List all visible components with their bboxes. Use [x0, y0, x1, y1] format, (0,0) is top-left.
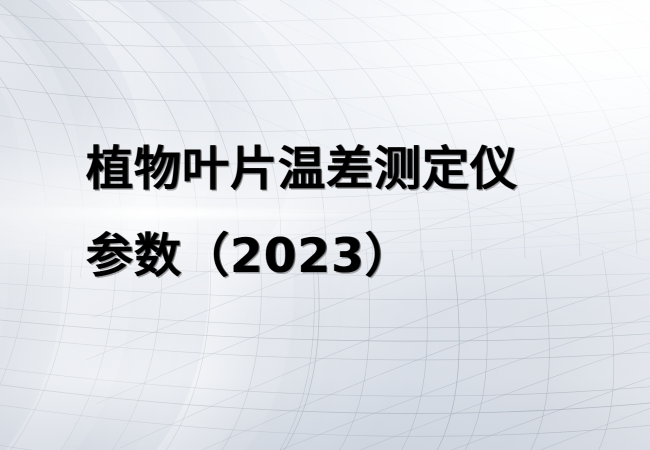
title-line-2: 参数（2023）: [86, 213, 518, 300]
page-title: 植物叶片温差测定仪 参数（2023）: [86, 126, 518, 300]
title-line-1: 植物叶片温差测定仪: [86, 126, 518, 213]
title-slide: 植物叶片温差测定仪 参数（2023）: [0, 0, 650, 450]
